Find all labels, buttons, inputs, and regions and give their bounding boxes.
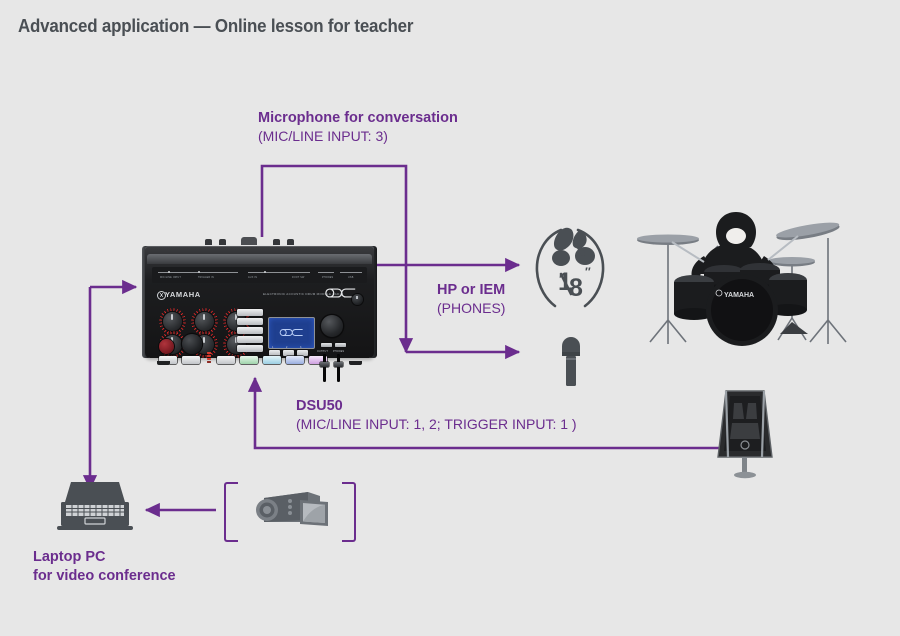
ead-rear-jack-4 [287, 239, 294, 245]
callout-laptop-title: Laptop PC [33, 548, 176, 567]
callout-headphones-title: HP or IEM [437, 281, 505, 300]
ead-top-lip [147, 254, 372, 264]
ead-foot-left [157, 361, 170, 365]
ead-small-knob [352, 294, 363, 305]
iem-earphones-icon: 1 8 ″ [528, 216, 612, 312]
ead-jog-wheel [182, 334, 202, 354]
diagram-canvas: Advanced application — Online lesson for… [0, 0, 900, 636]
camcorder-icon [250, 488, 332, 534]
ead-data-dial [321, 315, 343, 337]
dsu50-unit [714, 389, 776, 481]
callout-headphones-detail: (PHONES) [437, 300, 505, 318]
ead-body: MIC/LINE INPUT TRIGGER IN AUX IN FOOT SW… [145, 246, 374, 358]
svg-text:″: ″ [585, 265, 591, 279]
svg-text:8: 8 [569, 274, 583, 302]
handheld-microphone-icon [552, 332, 590, 388]
yamaha-wordmark: YAMAHA [165, 290, 201, 299]
callout-headphones: HP or IEM (PHONES) [437, 281, 505, 317]
bracket-left-icon [224, 482, 238, 542]
callout-laptop-detail: for video conference [33, 567, 176, 586]
ead-rear-knob [241, 237, 257, 245]
drummer-illustration: YAMAHA [632, 200, 858, 352]
ead-drum-module: MIC/LINE INPUT TRIGGER IN AUX IN FOOT SW… [145, 236, 374, 362]
ead-foot-right [349, 361, 362, 365]
drumkit-brand-text: YAMAHA [724, 292, 754, 299]
callout-microphone-title: Microphone for conversation [258, 109, 458, 128]
ead-rear-jack-1 [205, 239, 212, 245]
ead-rear-jack-3 [273, 239, 280, 245]
ead-rear-panel: MIC/LINE INPUT TRIGGER IN AUX IN FOOT SW… [152, 267, 367, 283]
laptop-icon [55, 480, 135, 534]
ead-lcd-screen [268, 317, 315, 349]
callout-dsu50: DSU50 (MIC/LINE INPUT: 1, 2; TRIGGER INP… [296, 397, 577, 433]
ead-record-button [159, 339, 174, 354]
callout-dsu50-detail: (MIC/LINE INPUT: 1, 2; TRIGGER INPUT: 1 … [296, 416, 577, 434]
callout-laptop: Laptop PC for video conference [33, 548, 176, 585]
callout-microphone-detail: (MIC/LINE INPUT: 3) [258, 128, 458, 146]
page-title: Advanced application — Online lesson for… [18, 16, 413, 37]
callout-dsu50-title: DSU50 [296, 397, 577, 416]
callout-microphone: Microphone for conversation (MIC/LINE IN… [258, 109, 458, 145]
bracket-right-icon [342, 482, 356, 542]
ead-rear-jack-2 [219, 239, 226, 245]
camcorder-group [224, 482, 356, 538]
